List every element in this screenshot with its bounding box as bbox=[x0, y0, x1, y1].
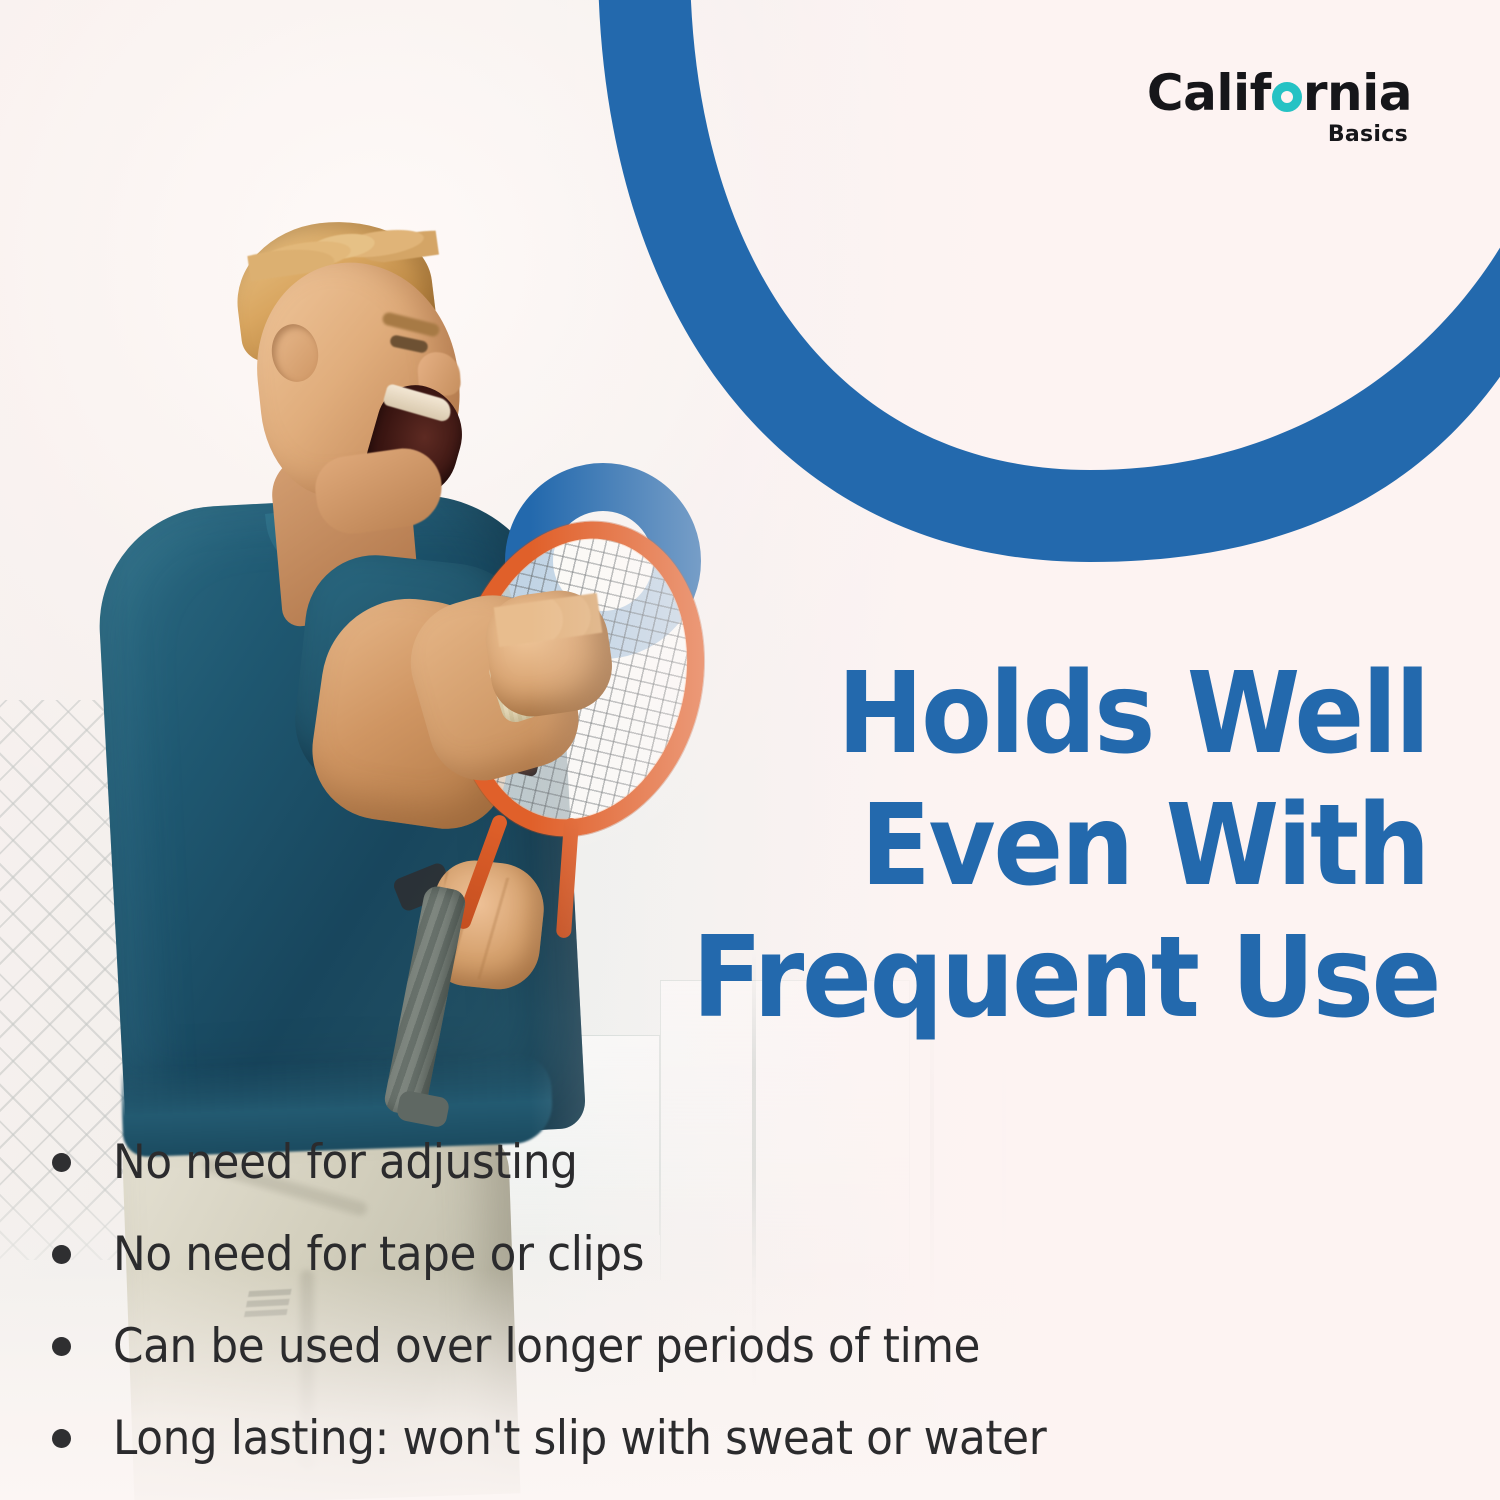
headline: Holds Well Even With Frequent Use bbox=[628, 648, 1428, 1044]
brand-name: Califrnia bbox=[1147, 68, 1412, 118]
bullet-dot-icon bbox=[52, 1429, 71, 1448]
feature-bullet-list: No need for adjusting No need for tape o… bbox=[52, 1116, 1452, 1484]
list-item: Long lasting: won't slip with sweat or w… bbox=[52, 1392, 1452, 1484]
bullet-dot-icon bbox=[52, 1337, 71, 1356]
headline-line-3: Frequent Use bbox=[692, 912, 1428, 1044]
brand-name-part1: Calif bbox=[1147, 64, 1271, 122]
bullet-label: No need for adjusting bbox=[113, 1135, 578, 1190]
bullet-label: Can be used over longer periods of time bbox=[113, 1319, 980, 1374]
headline-line-2: Even With bbox=[692, 780, 1428, 912]
racket-handle bbox=[382, 884, 467, 1118]
brand-name-part2: rnia bbox=[1303, 64, 1412, 122]
list-item: No need for tape or clips bbox=[52, 1208, 1452, 1300]
bullet-dot-icon bbox=[52, 1153, 71, 1172]
headline-line-1: Holds Well bbox=[692, 648, 1428, 780]
bullet-label: No need for tape or clips bbox=[113, 1227, 644, 1282]
list-item: Can be used over longer periods of time bbox=[52, 1300, 1452, 1392]
brand-o-ring-icon bbox=[1272, 82, 1302, 112]
bullet-label: Long lasting: won't slip with sweat or w… bbox=[113, 1411, 1046, 1466]
bullet-dot-icon bbox=[52, 1245, 71, 1264]
brand-tagline: Basics bbox=[1147, 122, 1408, 147]
brand-logo: Califrnia Basics bbox=[1147, 68, 1412, 147]
product-feature-poster: Califrnia Basics Holds Well Even With Fr… bbox=[0, 0, 1500, 1500]
list-item: No need for adjusting bbox=[52, 1116, 1452, 1208]
